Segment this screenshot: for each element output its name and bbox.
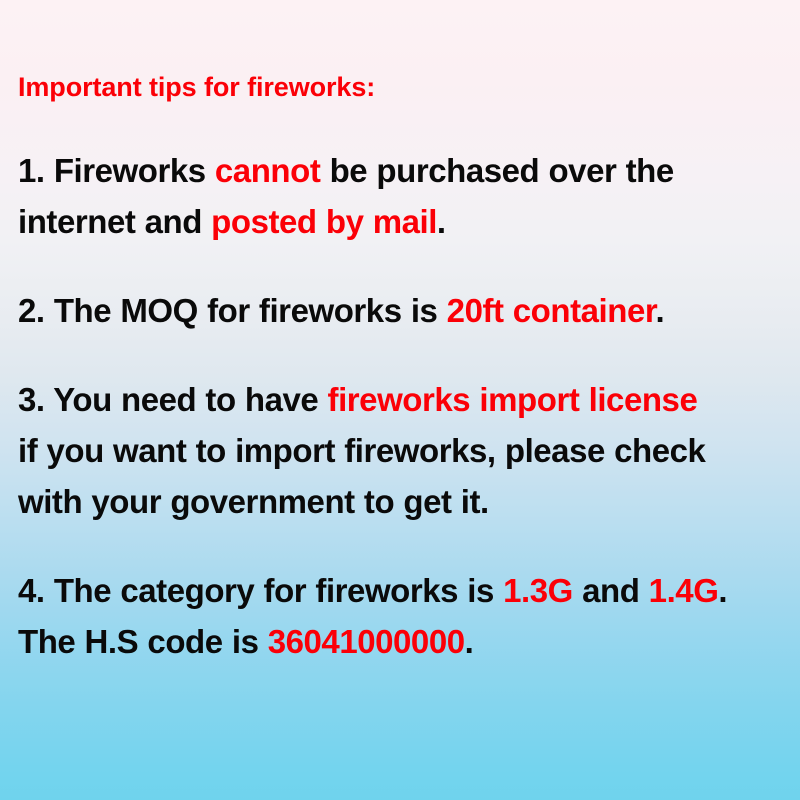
tip-item-3: 3. You need to have fireworks import lic… xyxy=(18,374,788,527)
tip-text-4-1-3: and xyxy=(573,572,649,609)
tip-text-3-2-1: if you want to import fireworks, please … xyxy=(18,432,705,469)
tip-highlight-1-2-2: posted by mail xyxy=(211,203,437,240)
tip-item-2: 2. The MOQ for fireworks is 20ft contain… xyxy=(18,285,788,336)
tip-text-2-1-1: 2. The MOQ for fireworks is xyxy=(18,292,447,329)
tips-list: 1. Fireworks cannot be purchased over th… xyxy=(18,145,788,667)
tip-highlight-2-1-2: 20ft container xyxy=(447,292,656,329)
tip-text-1-1-3: be purchased over the xyxy=(320,152,673,189)
tip-text-4-1-5: . xyxy=(718,572,727,609)
tip-text-3-3-1: with your government to get it. xyxy=(18,483,489,520)
tip-item-4: 4. The category for fireworks is 1.3G an… xyxy=(18,565,788,667)
tip-highlight-1-1-2: cannot xyxy=(215,152,320,189)
tip-text-4-1-1: 4. The category for fireworks is xyxy=(18,572,503,609)
tip-highlight-3-1-2: fireworks import license xyxy=(328,381,698,418)
tip-highlight-4-2-2: 36041000000 xyxy=(268,623,465,660)
tip-text-1-1-1: 1. Fireworks xyxy=(18,152,215,189)
tip-highlight-4-1-2: 1.3G xyxy=(503,572,573,609)
tip-text-4-2-1: The H.S code is xyxy=(18,623,268,660)
fireworks-tips-notice: Important tips for fireworks: 1. Firewor… xyxy=(0,0,800,800)
tip-text-1-2-1: internet and xyxy=(18,203,211,240)
tip-text-4-2-3: . xyxy=(465,623,474,660)
tip-highlight-4-1-4: 1.4G xyxy=(649,572,719,609)
tip-text-2-1-3: . xyxy=(655,292,664,329)
tip-text-3-1-1: 3. You need to have xyxy=(18,381,328,418)
tip-item-1: 1. Fireworks cannot be purchased over th… xyxy=(18,145,788,247)
page-title: Important tips for fireworks: xyxy=(18,0,788,101)
notice-content: Important tips for fireworks: 1. Firewor… xyxy=(18,0,788,667)
tip-text-1-2-3: . xyxy=(437,203,446,240)
